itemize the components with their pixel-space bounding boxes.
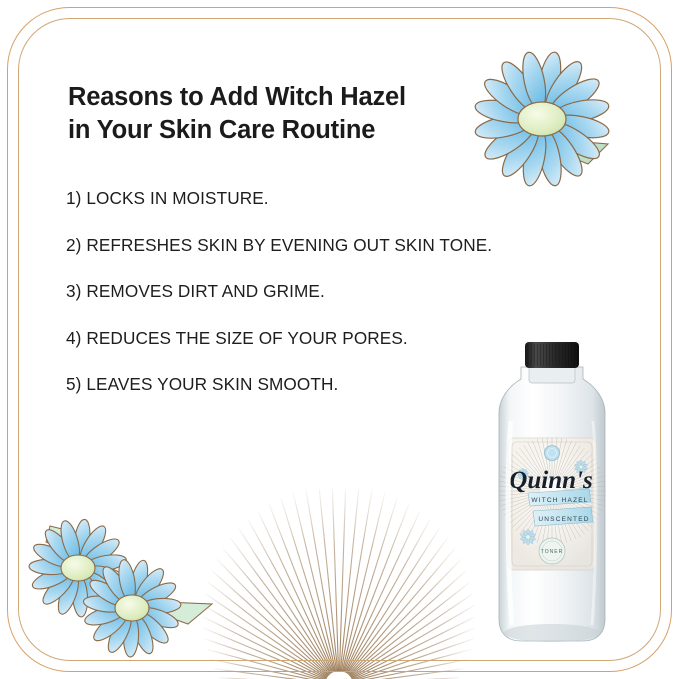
- page-title-line1: Reasons to Add Witch Hazel: [68, 83, 406, 111]
- page-title-line2: in Your Skin Care Routine: [68, 116, 375, 144]
- seal-label-text: TONER: [541, 549, 563, 555]
- list-item: 2) REFRESHES SKIN BY EVENING OUT SKIN TO…: [66, 235, 566, 256]
- list-item: 3) REMOVES DIRT AND GRIME.: [66, 281, 566, 302]
- page-title: Reasons to Add Witch Hazel in Your Skin …: [68, 81, 468, 147]
- list-item: 1) LOCKS IN MOISTURE.: [66, 188, 566, 209]
- variant-line1-text: WITCH HAZEL: [531, 497, 588, 504]
- variant-line2-text: UNSCENTED: [538, 516, 589, 523]
- headline-full: Reasons to Add Witch Hazel in Your Skin …: [0, 0, 1, 1]
- product-bottle: Quinn's WITCH HAZEL UNSCENTED TONER: [481, 341, 623, 653]
- daisy-flower-pair-icon: [16, 498, 246, 658]
- infographic-page: Reasons to Add Witch Hazel in Your Skin …: [0, 0, 679, 679]
- daisy-flower-icon: [462, 48, 622, 188]
